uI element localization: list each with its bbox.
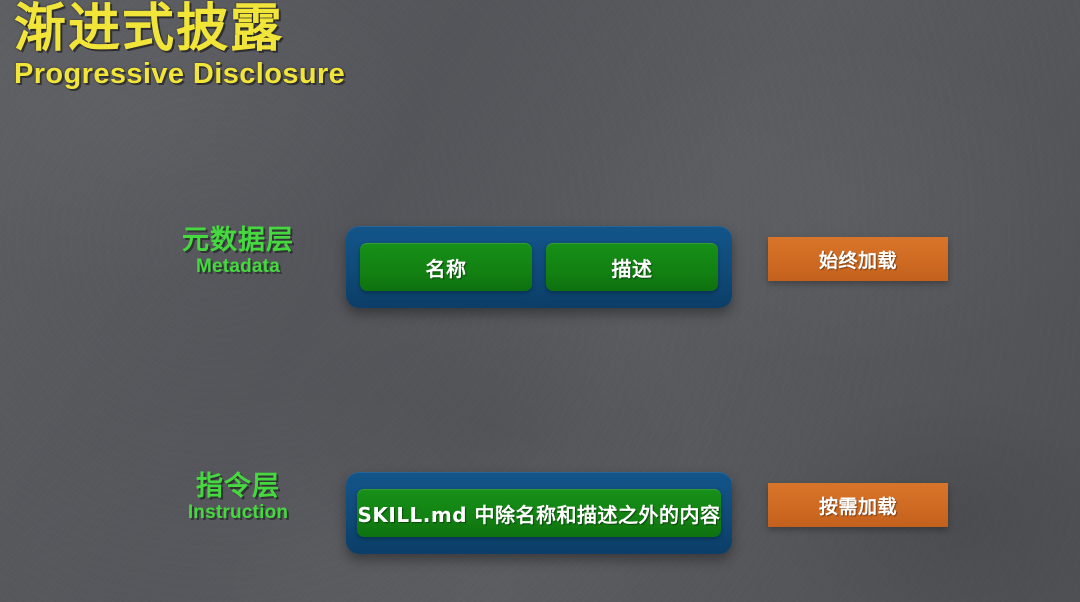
- layer-row-metadata: 元数据层 Metadata 名称 描述 始终加载: [0, 226, 1080, 318]
- layer-label-cn: 指令层: [140, 472, 336, 502]
- slide-canvas: 渐进式披露 Progressive Disclosure 元数据层 Metada…: [0, 0, 1080, 602]
- chip-skill-md-content[interactable]: SKILL.md 中除名称和描述之外的内容: [357, 489, 720, 537]
- status-badge-on-demand: 按需加载: [768, 483, 948, 527]
- layer-container-metadata: 名称 描述: [346, 226, 732, 308]
- layer-label-en: Metadata: [140, 256, 336, 278]
- status-badge-always-load: 始终加载: [768, 237, 948, 281]
- chip-name[interactable]: 名称: [360, 243, 532, 291]
- layer-label-metadata: 元数据层 Metadata: [140, 226, 336, 278]
- layer-label-en: Instruction: [140, 502, 336, 524]
- layer-label-cn: 元数据层: [140, 226, 336, 256]
- page-title-cn: 渐进式披露: [14, 2, 1080, 57]
- page-title-en: Progressive Disclosure: [14, 58, 1080, 91]
- layer-container-instruction: SKILL.md 中除名称和描述之外的内容: [346, 472, 732, 554]
- layer-label-instruction: 指令层 Instruction: [140, 472, 336, 524]
- layer-row-instruction: 指令层 Instruction SKILL.md 中除名称和描述之外的内容 按需…: [0, 472, 1080, 564]
- chip-description[interactable]: 描述: [546, 243, 718, 291]
- title-block: 渐进式披露 Progressive Disclosure: [14, 2, 1080, 91]
